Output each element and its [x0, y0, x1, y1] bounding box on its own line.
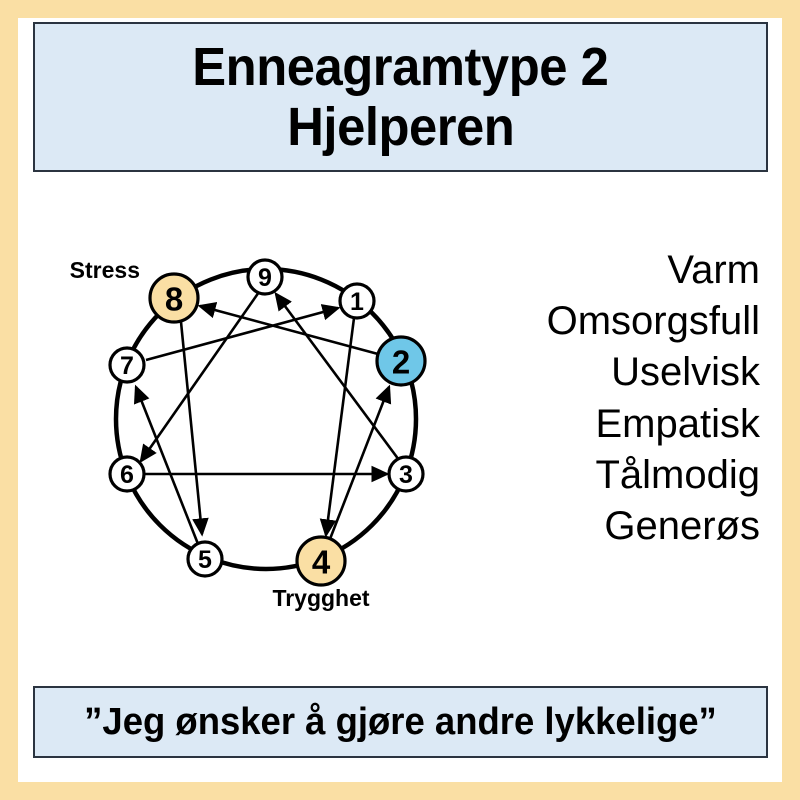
link-1-4: [326, 318, 354, 535]
trait-item: Uselvisk: [430, 347, 760, 398]
trait-item: Tålmodig: [430, 450, 760, 501]
node-8-label: 8: [165, 281, 183, 318]
node-4-label: 4: [312, 544, 331, 581]
quote-text: ”Jeg ønsker å gjøre andre lykkelige”: [84, 701, 717, 744]
slide-page: Enneagramtype 2 Hjelperen: [18, 18, 782, 782]
node-9-label: 9: [258, 264, 272, 292]
trait-item: Varm: [430, 245, 760, 296]
node-9[interactable]: 9: [248, 260, 282, 294]
node-7-label: 7: [120, 352, 134, 380]
node-7[interactable]: 7: [110, 348, 144, 382]
title-line-type: Enneagramtype 2: [192, 37, 608, 97]
node-1-label: 1: [350, 288, 364, 316]
stress-label: Stress: [70, 257, 140, 283]
node-5[interactable]: 5: [188, 542, 222, 576]
trait-item: Empatisk: [430, 399, 760, 450]
enneagram-diagram: 9 1 2 3 4: [58, 228, 478, 628]
node-5-label: 5: [198, 546, 212, 574]
node-2-label: 2: [392, 344, 410, 381]
trait-item: Generøs: [430, 501, 760, 552]
quote-banner: ”Jeg ønsker å gjøre andre lykkelige”: [33, 686, 768, 758]
content-area: 9 1 2 3 4: [18, 183, 782, 673]
security-label: Trygghet: [272, 585, 369, 611]
trait-item: Omsorgsfull: [430, 296, 760, 347]
link-8-5: [181, 322, 202, 534]
node-3-label: 3: [399, 461, 413, 489]
title-line-name: Hjelperen: [287, 97, 514, 157]
node-8[interactable]: 8: [150, 274, 198, 322]
node-6-label: 6: [120, 461, 134, 489]
node-2[interactable]: 2: [377, 337, 425, 385]
node-4[interactable]: 4: [297, 537, 345, 585]
title-banner: Enneagramtype 2 Hjelperen: [33, 22, 768, 172]
node-6[interactable]: 6: [110, 457, 144, 491]
trait-list: Varm Omsorgsfull Uselvisk Empatisk Tålmo…: [430, 245, 760, 552]
node-1[interactable]: 1: [340, 284, 374, 318]
node-3[interactable]: 3: [389, 457, 423, 491]
